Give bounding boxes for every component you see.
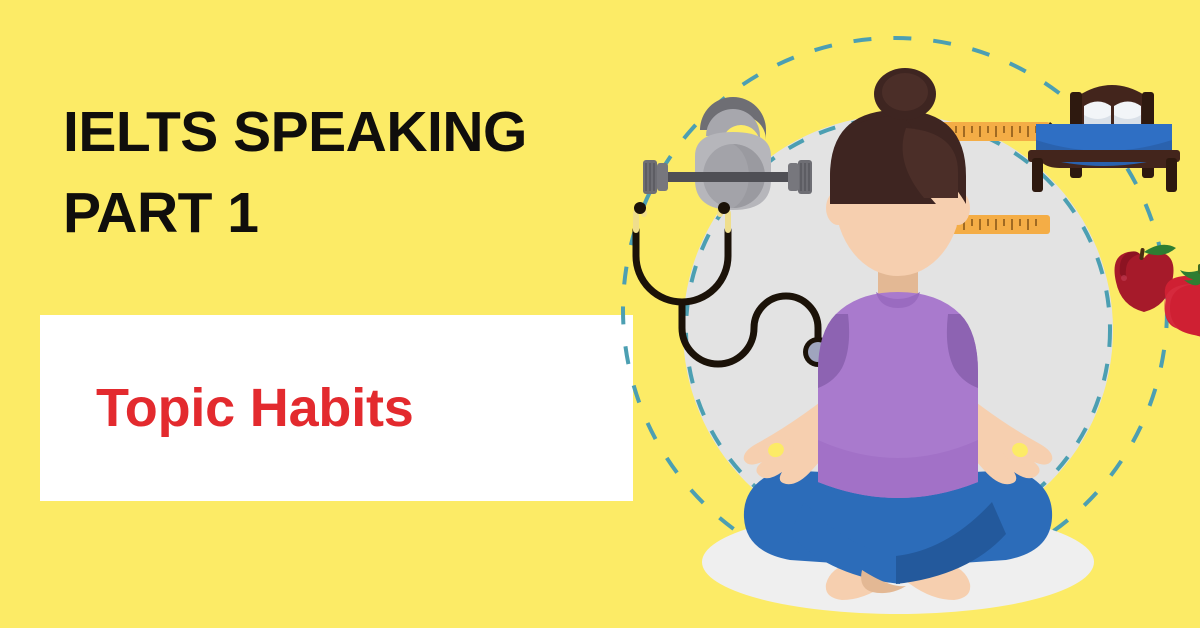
ielts-speaking-banner: IELTS SPEAKING PART 1 Topic Habits [0, 0, 1200, 628]
topic-card: Topic Habits [40, 315, 633, 501]
page-title: IELTS SPEAKING PART 1 [63, 92, 663, 254]
healthy-habits-illustration [600, 0, 1200, 628]
bed-icon [1028, 85, 1180, 192]
topic-label: Topic Habits [40, 381, 414, 435]
apple-tomato-icon [1115, 245, 1200, 337]
